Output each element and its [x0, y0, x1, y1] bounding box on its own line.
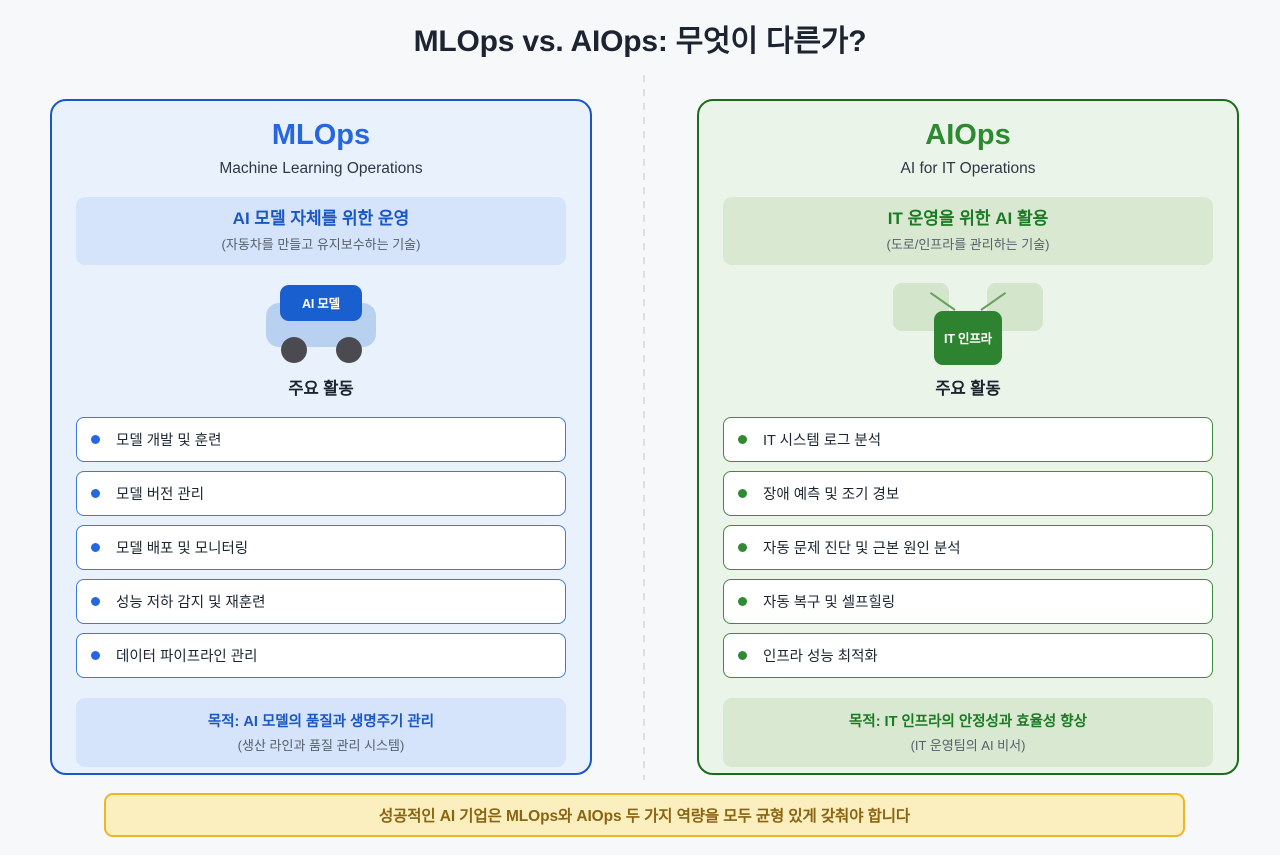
panel-mlops-concept-main: AI 모델 자체를 위한 운영	[86, 208, 556, 229]
list-item[interactable]: 자동 문제 진단 및 근본 원인 분석	[723, 525, 1213, 570]
car-wheel-left-icon	[281, 337, 307, 363]
panel-mlops-purpose-box: 목적: AI 모델의 품질과 생명주기 관리 (생산 라인과 품질 관리 시스템…	[76, 698, 566, 767]
panel-mlops-subtitle: Machine Learning Operations	[76, 160, 566, 178]
list-item[interactable]: 인프라 성능 최적화	[723, 633, 1213, 678]
list-item[interactable]: 데이터 파이프라인 관리	[76, 633, 566, 678]
panel-mlops: MLOps Machine Learning Operations AI 모델 …	[50, 99, 592, 775]
list-item[interactable]: 모델 버전 관리	[76, 471, 566, 516]
panel-mlops-activity-list: 모델 개발 및 훈련 모델 버전 관리 모델 배포 및 모니터링 성능 저하 감…	[76, 417, 566, 678]
panel-aiops-activity-list: IT 시스템 로그 분석 장애 예측 및 조기 경보 자동 문제 진단 및 근본…	[723, 417, 1213, 678]
panel-aiops-subtitle: AI for IT Operations	[723, 160, 1213, 178]
network-infrastructure-icon: IT 인프라	[893, 283, 1043, 365]
bullet-icon	[738, 597, 747, 606]
panel-aiops-purpose-main: 목적: IT 인프라의 안정성과 효율성 향상	[733, 710, 1203, 731]
panel-aiops-concept-sub: (도로/인프라를 관리하는 기술)	[733, 234, 1203, 253]
bullet-icon	[738, 435, 747, 444]
bullet-icon	[91, 489, 100, 498]
page-title: MLOps vs. AIOps: 무엇이 다른가?	[0, 16, 1280, 60]
list-item-label: 모델 개발 및 훈련	[116, 429, 221, 450]
bullet-icon	[91, 651, 100, 660]
panel-mlops-concept-sub: (자동차를 만들고 유지보수하는 기술)	[86, 234, 556, 253]
panel-mlops-purpose-sub: (생산 라인과 품질 관리 시스템)	[86, 735, 556, 754]
panel-mlops-icon-area: AI 모델	[76, 281, 566, 373]
bullet-icon	[91, 597, 100, 606]
list-item[interactable]: 모델 개발 및 훈련	[76, 417, 566, 462]
list-item-label: 자동 복구 및 셀프힐링	[763, 591, 895, 612]
panel-mlops-concept-band: AI 모델 자체를 위한 운영 (자동차를 만들고 유지보수하는 기술)	[76, 197, 566, 264]
car-wheel-right-icon	[336, 337, 362, 363]
list-item-label: IT 시스템 로그 분석	[763, 429, 881, 450]
bullet-icon	[738, 543, 747, 552]
list-item-label: 인프라 성능 최적화	[763, 645, 878, 666]
infographic-page: MLOps vs. AIOps: 무엇이 다른가? MLOps Machine …	[0, 0, 1280, 855]
panel-mlops-activities-heading: 주요 활동	[76, 375, 566, 399]
panel-aiops: AIOps AI for IT Operations IT 운영을 위한 AI …	[697, 99, 1239, 775]
bullet-icon	[738, 651, 747, 660]
list-item[interactable]: IT 시스템 로그 분석	[723, 417, 1213, 462]
panel-aiops-concept-main: IT 운영을 위한 AI 활용	[733, 208, 1203, 229]
panel-mlops-purpose-main: 목적: AI 모델의 품질과 생명주기 관리	[86, 710, 556, 731]
panel-aiops-title: AIOps	[723, 119, 1213, 152]
list-item-label: 모델 버전 관리	[116, 483, 204, 504]
car-cabin-label: AI 모델	[280, 285, 362, 321]
list-item[interactable]: 장애 예측 및 조기 경보	[723, 471, 1213, 516]
bullet-icon	[91, 435, 100, 444]
network-core-label: IT 인프라	[934, 311, 1002, 365]
panel-aiops-icon-area: IT 인프라	[723, 281, 1213, 373]
car-icon: AI 모델	[266, 285, 376, 363]
list-item-label: 장애 예측 및 조기 경보	[763, 483, 899, 504]
list-item-label: 성능 저하 감지 및 재훈련	[116, 591, 266, 612]
panel-aiops-concept-band: IT 운영을 위한 AI 활용 (도로/인프라를 관리하는 기술)	[723, 197, 1213, 264]
list-item-label: 데이터 파이프라인 관리	[116, 645, 257, 666]
list-item-label: 자동 문제 진단 및 근본 원인 분석	[763, 537, 961, 558]
bullet-icon	[738, 489, 747, 498]
panel-mlops-title: MLOps	[76, 119, 566, 152]
panel-aiops-activities-heading: 주요 활동	[723, 375, 1213, 399]
list-item[interactable]: 모델 배포 및 모니터링	[76, 525, 566, 570]
panel-aiops-purpose-sub: (IT 운영팀의 AI 비서)	[733, 735, 1203, 754]
list-item[interactable]: 성능 저하 감지 및 재훈련	[76, 579, 566, 624]
bottom-banner: 성공적인 AI 기업은 MLOps와 AIOps 두 가지 역량을 모두 균형 …	[104, 793, 1185, 837]
list-item-label: 모델 배포 및 모니터링	[116, 537, 248, 558]
list-item[interactable]: 자동 복구 및 셀프힐링	[723, 579, 1213, 624]
bullet-icon	[91, 543, 100, 552]
panel-aiops-purpose-box: 목적: IT 인프라의 안정성과 효율성 향상 (IT 운영팀의 AI 비서)	[723, 698, 1213, 767]
center-divider	[643, 75, 645, 780]
